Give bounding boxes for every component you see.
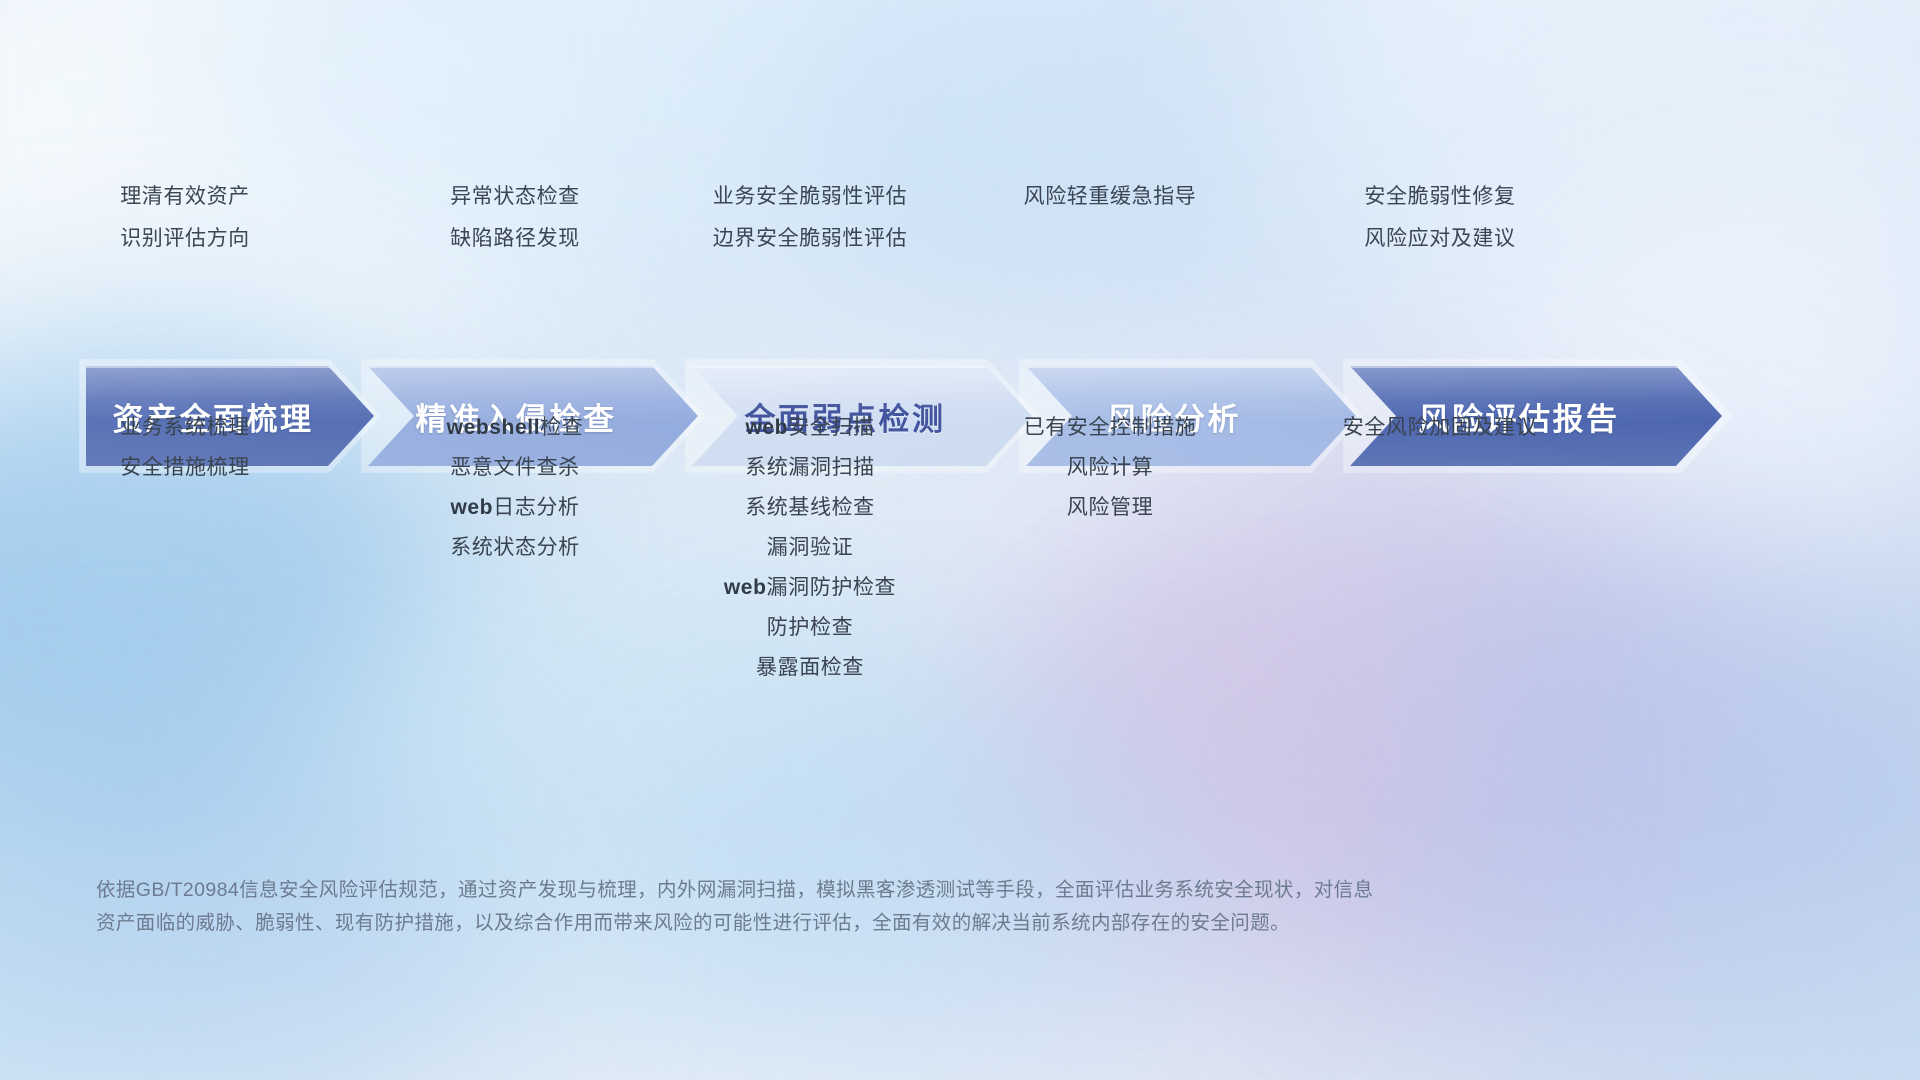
list-item: 漏洞验证 [767,528,853,568]
top-captions-risk-analysis: 风险轻重缓急指导 [960,176,1260,218]
list-item: 安全措施梳理 [120,448,250,488]
list-item: 已有安全控制措施 [1024,408,1197,448]
top-caption: 安全脆弱性修复 [1364,176,1515,218]
footer-description: 依据GB/T20984信息安全风险评估规范，通过资产发现与梳理，内外网漏洞扫描，… [96,874,1596,940]
list-item: web漏洞防护检查 [724,568,896,608]
chevron-highlight-edge [1350,366,1722,368]
list-item: webshell检查 [447,408,584,448]
list-item: 恶意文件查杀 [450,448,580,488]
bottom-list-weakness: web安全扫描 系统漏洞扫描 系统基线检查 漏洞验证 web漏洞防护检查 防护检… [660,408,960,688]
list-item: 业务系统梳理 [120,408,250,448]
process-diagram: 理清有效资产 识别评估方向 异常状态检查 缺陷路径发现 业务安全脆弱性评估 边界… [0,0,1920,1080]
bottom-list-report: 安全风险加固及建议 [1250,408,1630,448]
top-caption: 风险应对及建议 [1364,218,1515,260]
top-caption: 业务安全脆弱性评估 [713,176,907,218]
list-item: 系统漏洞扫描 [745,448,875,488]
list-item: 安全风险加固及建议 [1343,408,1537,448]
list-item: web日志分析 [450,488,579,528]
top-captions-weakness: 业务安全脆弱性评估 边界安全脆弱性评估 [660,176,960,260]
top-captions-row: 理清有效资产 识别评估方向 异常状态检查 缺陷路径发现 业务安全脆弱性评估 边界… [0,176,1920,260]
bottom-lists-row: 业务系统梳理 安全措施梳理 webshell检查 恶意文件查杀 web日志分析 … [0,408,1920,688]
bottom-list-asset: 业务系统梳理 安全措施梳理 [0,408,370,488]
top-caption: 缺陷路径发现 [450,218,580,260]
list-item: 风险管理 [1067,488,1153,528]
chevron-highlight-edge [692,366,1032,368]
list-item: 风险计算 [1067,448,1153,488]
footer-line: 资产面临的威胁、脆弱性、现有防护措施，以及综合作用而带来风险的可能性进行评估，全… [96,907,1596,940]
chevron-highlight-edge [368,366,698,368]
top-caption: 理清有效资产 [120,176,250,218]
top-captions-report: 安全脆弱性修复 风险应对及建议 [1250,176,1630,260]
top-caption: 识别评估方向 [120,218,250,260]
footer-line: 依据GB/T20984信息安全风险评估规范，通过资产发现与梳理，内外网漏洞扫描，… [96,874,1596,907]
list-item: 系统基线检查 [745,488,875,528]
top-caption: 边界安全脆弱性评估 [713,218,907,260]
bottom-list-intrusion: webshell检查 恶意文件查杀 web日志分析 系统状态分析 [370,408,660,568]
list-item: 系统状态分析 [450,528,580,568]
top-caption: 风险轻重缓急指导 [1024,176,1197,218]
top-captions-asset: 理清有效资产 识别评估方向 [0,176,370,260]
bottom-list-risk-analysis: 已有安全控制措施 风险计算 风险管理 [960,408,1260,528]
list-item: 防护检查 [767,608,853,648]
list-item: web安全扫描 [745,408,874,448]
top-captions-intrusion: 异常状态检查 缺陷路径发现 [370,176,660,260]
chevron-highlight-edge [1026,366,1356,368]
list-item: 暴露面检查 [756,648,864,688]
top-caption: 异常状态检查 [450,176,580,218]
